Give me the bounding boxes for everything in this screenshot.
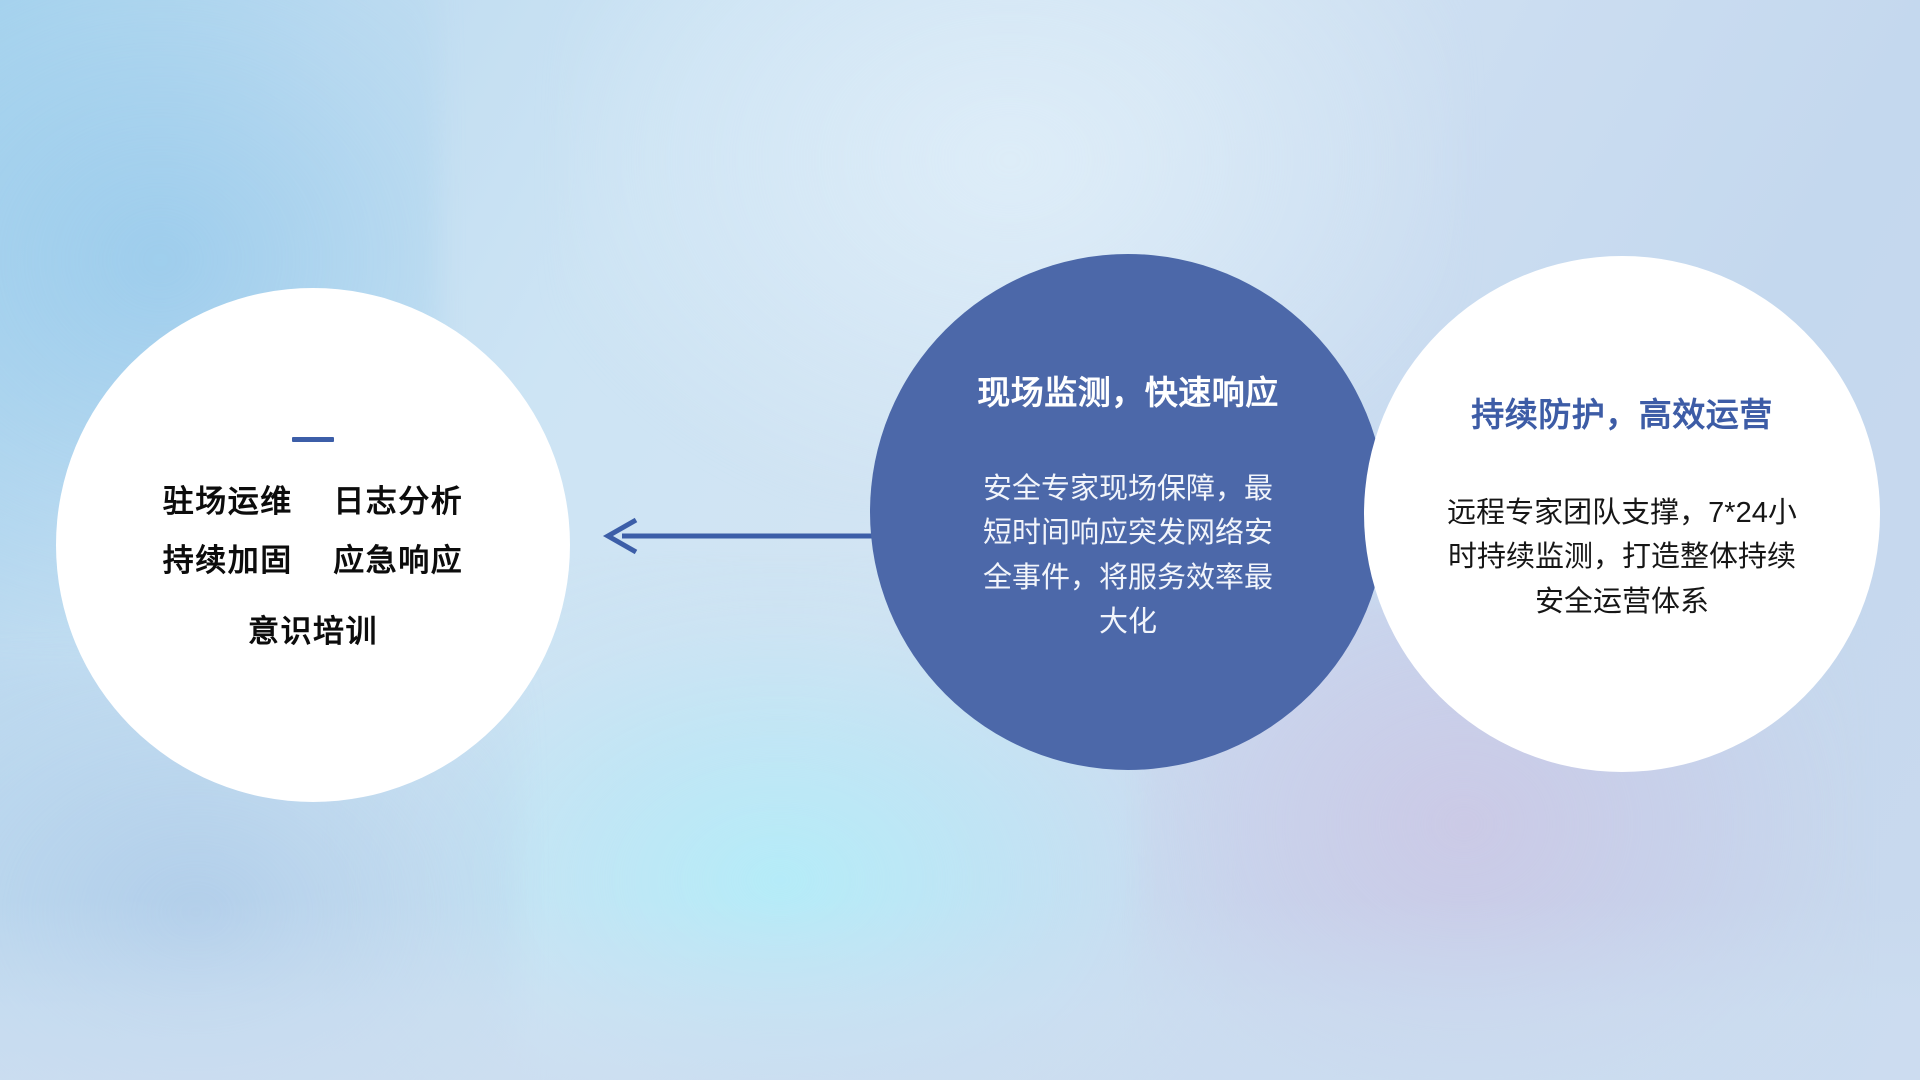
remote-heading: 持续防护，高效运营 <box>1471 398 1773 431</box>
arrow-left-icon <box>596 516 876 556</box>
service-circle-remote: 持续防护，高效运营 远程专家团队支撑，7*24小时持续监测，打造整体持续安全运营… <box>1364 256 1880 772</box>
capability-line-2: 持续加固 应急响应 <box>163 545 463 576</box>
dash-divider-icon <box>292 437 334 442</box>
onsite-body-text: 安全专家现场保障，最短时间响应突发网络安全事件，将服务效率最大化 <box>978 467 1278 643</box>
capability-circle-left: 驻场运维 日志分析 持续加固 应急响应 意识培训 <box>56 288 570 802</box>
capability-line-1: 驻场运维 日志分析 <box>163 486 463 517</box>
service-circle-onsite: 现场监测，快速响应 安全专家现场保障，最短时间响应突发网络安全事件，将服务效率最… <box>870 254 1386 770</box>
capability-line-3: 意识培训 <box>248 616 378 647</box>
onsite-heading: 现场监测，快速响应 <box>977 376 1279 409</box>
remote-body-text: 远程专家团队支撑，7*24小时持续监测，打造整体持续安全运营体系 <box>1443 491 1801 623</box>
background-glow-bottom <box>0 900 1920 1080</box>
